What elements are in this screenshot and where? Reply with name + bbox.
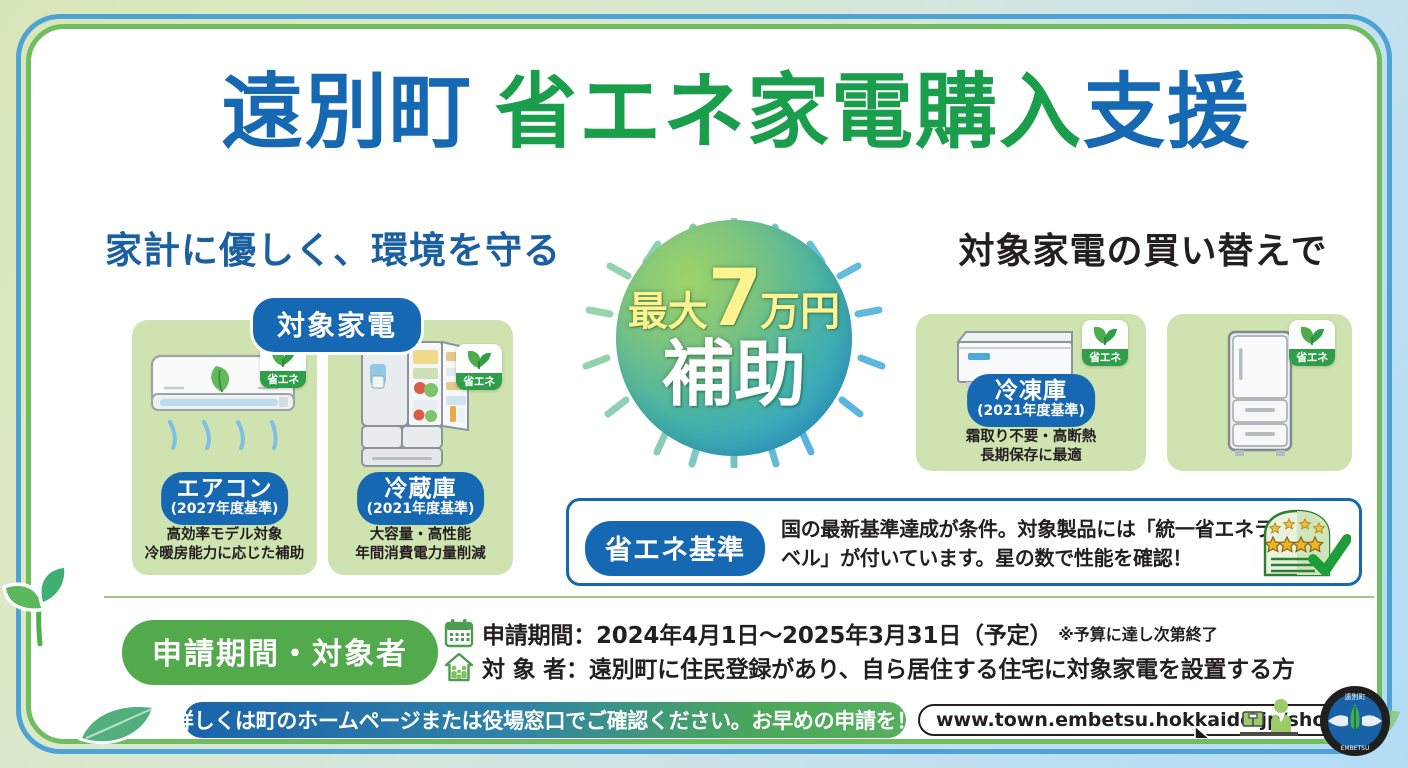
appliance-desc-line1: 霜取り不要・高断熱 [916, 428, 1146, 447]
apply-period-text: 申請期間：2024年4月1日〜2025年3月31日（予定） [482, 616, 1052, 650]
subtitle-right: 対象家電の買い替えで [908, 222, 1376, 274]
mouse-pointer-icon [1192, 724, 1222, 738]
service-counter-icon [1240, 698, 1298, 738]
appliance-desc-line2: 冷暖房能力に応じた補助 [132, 545, 317, 564]
website-url-box[interactable]: www.town.embetsu.hokkaido.jp/shoene [918, 704, 1376, 736]
appliance-title: 冷凍庫 [977, 379, 1085, 403]
subsidy-circle: 最大7万円 補助 [616, 220, 852, 456]
footer-cta-bar: 詳しくは町のホームページまたは役場窓口でご確認ください。お早めの申請を！ [184, 702, 906, 738]
appliance-description: 霜取り不要・高断熱 長期保存に最適 [916, 428, 1146, 466]
subsidy-prefix: 最大 [628, 292, 708, 332]
appliance-card-refrigerator: 省エネ 冷蔵庫 (2021年度基準) 大容量・高性能 年間消費電力量削減 [328, 320, 513, 575]
title-main: 省エネ家電購入 [495, 65, 1083, 160]
eco-leaf-icon [456, 344, 502, 373]
poster-content: 遠別町省エネ家電購入支援 家計に優しく、環境を守る 対象家電の買い替えで [32, 30, 1376, 738]
appliance-desc-line1: 高効率モデル対象 [132, 526, 317, 545]
appliance-caption: 冷蔵庫 (2021年度基準) [357, 472, 485, 525]
poster-root: 遠別町省エネ家電購入支援 家計に優しく、環境を守る 対象家電の買い替えで [0, 0, 1408, 768]
eco-leaf-icon [1082, 320, 1128, 349]
calendar-icon [444, 618, 474, 648]
appliance-title: エアコン [171, 477, 279, 501]
appliance-card-refrigerator-closed: 省エネ [1167, 314, 1352, 471]
appliance-caption: 冷凍庫 (2021年度基準) [967, 374, 1095, 427]
energy-standard-line2: ベル」が付いています。星の数で性能を確認！ [781, 544, 1311, 573]
eco-badge-label: 省エネ [1289, 349, 1335, 366]
svg-text:EMBETSU: EMBETSU [1341, 745, 1370, 752]
appliance-desc-line2: 年間消費電力量削減 [328, 545, 513, 564]
eco-badge: 省エネ [1082, 320, 1128, 366]
energy-standard-line1: 国の最新基準達成が条件。対象製品には「統一省エネラ [781, 515, 1311, 544]
eco-badge-label: 省エネ [260, 371, 306, 388]
apply-target-row: 対 象 者：遠別町に住民登録があり、自ら居住する住宅に対象家電を設置する方 [444, 650, 1295, 684]
apply-target-text: 対 象 者：遠別町に住民登録があり、自ら居住する住宅に対象家電を設置する方 [482, 650, 1295, 684]
appliance-caption: エアコン (2027年度基準) [161, 472, 289, 525]
appliance-description: 大容量・高性能 年間消費電力量削減 [328, 526, 513, 564]
appliance-desc-line1: 大容量・高性能 [328, 526, 513, 545]
appliance-description: 高効率モデル対象 冷暖房能力に応じた補助 [132, 526, 317, 564]
appliance-standard: (2021年度基準) [367, 501, 475, 518]
energy-standard-pill: 省エネ基準 [585, 521, 765, 576]
page-title: 遠別町省エネ家電購入支援 [32, 72, 1376, 154]
appliance-standard: (2021年度基準) [977, 403, 1085, 420]
subsidy-amount: 7 [708, 266, 762, 332]
appliance-standard: (2027年度基準) [171, 501, 279, 518]
energy-standard-text: 国の最新基準達成が条件。対象製品には「統一省エネラ ベル」が付いています。星の数… [781, 515, 1311, 573]
eco-badge: 省エネ [1289, 320, 1335, 366]
appliance-title: 冷蔵庫 [367, 477, 475, 501]
eco-badge-label: 省エネ [456, 373, 502, 390]
eco-badge: 省エネ [456, 344, 502, 390]
subtitle-left: 家計に優しく、環境を守る [98, 220, 568, 274]
subsidy-amount-badge: 最大7万円 補助 [562, 218, 902, 468]
energy-label-icon [1259, 509, 1351, 579]
apply-period-pill: 申請期間・対象者 [122, 620, 438, 685]
subsidy-unit: 万円 [760, 292, 840, 332]
embetsu-town-emblem: 遠別町 EMBETSU [1316, 682, 1394, 760]
title-town: 遠別町 [221, 65, 473, 160]
target-appliances-pill: 対象家電 [250, 295, 424, 355]
footer-cta-text: 詳しくは町のホームページまたは役場窓口でご確認ください。お早めの申請を！ [173, 705, 917, 735]
eco-badge-label: 省エネ [1082, 349, 1128, 366]
svg-text:遠別町: 遠別町 [1345, 692, 1366, 701]
subsidy-amount-line: 最大7万円 [628, 266, 840, 332]
energy-standard-box: 省エネ基準 国の最新基準達成が条件。対象製品には「統一省エネラ ベル」が付いてい… [566, 498, 1362, 586]
eco-leaf-icon [1289, 320, 1335, 349]
apply-period-row: 申請期間：2024年4月1日〜2025年3月31日（予定） ※予算に達し次第終了 [444, 616, 1218, 650]
apply-period-note: ※予算に達し次第終了 [1058, 621, 1218, 645]
website-url-text: www.town.embetsu.hokkaido.jp/shoene [936, 709, 1365, 731]
appliance-card-freezer: 省エネ 冷凍庫 (2021年度基準) 霜取り不要・高断熱 長期保存に最適 [916, 314, 1146, 471]
section-divider [104, 596, 1374, 598]
appliance-card-air-conditioner: 省エネ エアコン (2027年度基準) 高効率モデル対象 冷暖房能力に応じた補助 [132, 320, 317, 575]
subsidy-word: 補助 [662, 338, 806, 410]
title-tail: 支援 [1083, 65, 1251, 160]
appliance-desc-line2: 長期保存に最適 [916, 447, 1146, 466]
house-family-icon [444, 652, 474, 682]
